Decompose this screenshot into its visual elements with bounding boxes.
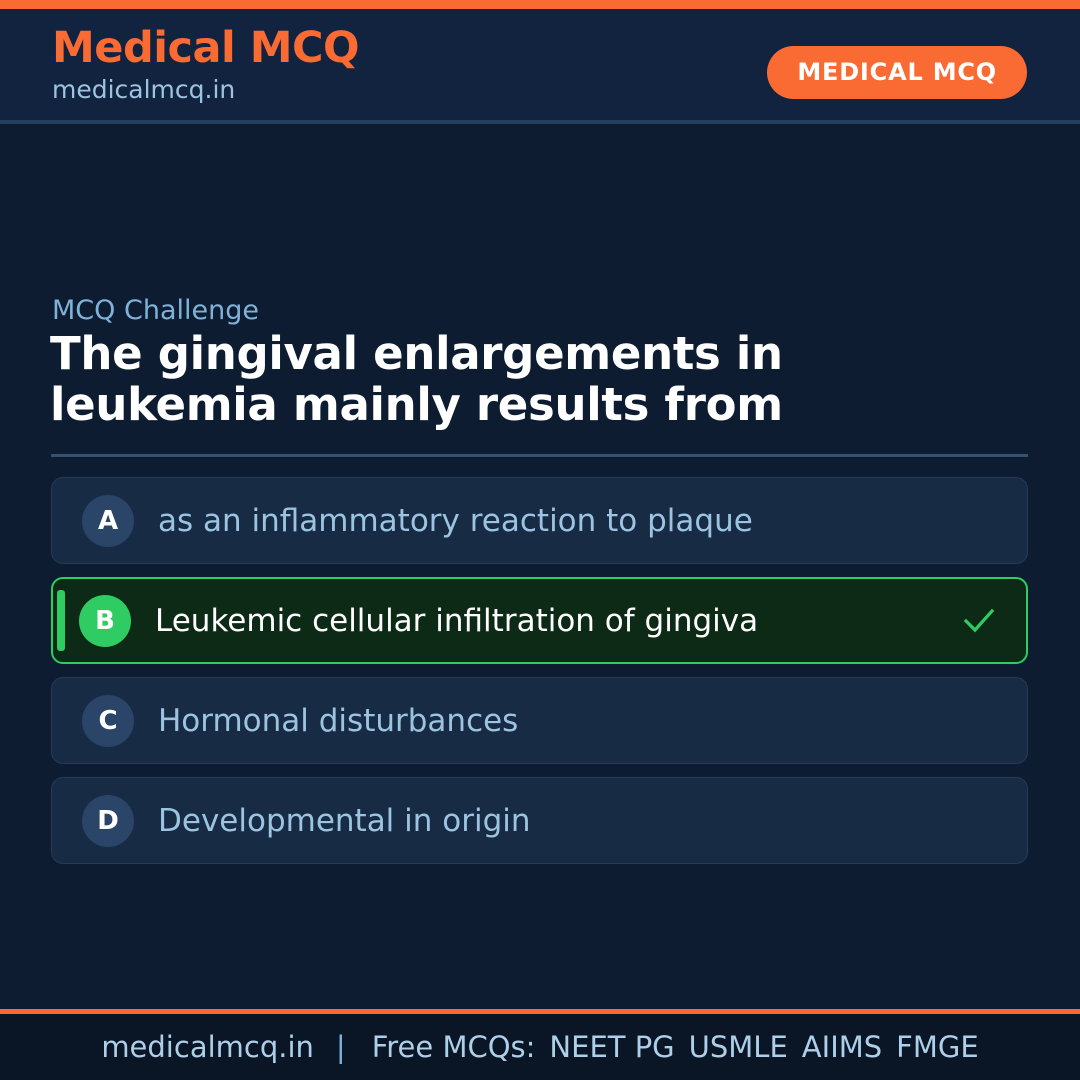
footer-content: medicalmcq.in | Free MCQs: NEET PG USMLE…: [101, 1029, 978, 1065]
brand-title: Medical MCQ: [52, 22, 359, 74]
option-letter-badge: D: [82, 795, 134, 847]
option-d[interactable]: D Developmental in origin: [51, 777, 1028, 864]
option-label: as an inflammatory reaction to plaque: [158, 502, 753, 540]
question-text: The gingival enlargements in leukemia ma…: [50, 328, 970, 430]
option-a[interactable]: A as an inflammatory reaction to plaque: [51, 477, 1028, 564]
footer-tag-neet-pg[interactable]: NEET PG: [549, 1029, 674, 1065]
option-letter-badge: C: [82, 695, 134, 747]
footer-bar: medicalmcq.in | Free MCQs: NEET PG USMLE…: [0, 1014, 1080, 1080]
brand: Medical MCQ medicalmcq.in: [52, 22, 359, 106]
footer-site[interactable]: medicalmcq.in: [101, 1029, 314, 1065]
question-divider: [51, 454, 1028, 457]
option-letter-badge: B: [79, 595, 131, 647]
option-label: Hormonal disturbances: [158, 702, 518, 740]
header-divider: [0, 120, 1080, 124]
option-c[interactable]: C Hormonal disturbances: [51, 677, 1028, 764]
mcq-challenge-label: MCQ Challenge: [52, 294, 259, 328]
header-bar: Medical MCQ medicalmcq.in MEDICAL MCQ: [0, 9, 1080, 122]
option-accent-bar: [57, 590, 65, 651]
option-label: Developmental in origin: [158, 802, 531, 840]
option-letter-badge: A: [82, 495, 134, 547]
mcq-card: Medical MCQ medicalmcq.in MEDICAL MCQ MC…: [0, 0, 1080, 1080]
footer-label: Free MCQs:: [372, 1029, 536, 1065]
footer-tag-aiims[interactable]: AIIMS: [802, 1029, 882, 1065]
footer-separator: |: [336, 1029, 346, 1065]
header-badge: MEDICAL MCQ: [767, 46, 1027, 99]
footer-tag-fmge[interactable]: FMGE: [896, 1029, 979, 1065]
options-list: A as an inflammatory reaction to plaque …: [51, 477, 1028, 877]
top-accent-bar: [0, 0, 1080, 9]
option-b[interactable]: B Leukemic cellular infiltration of ging…: [51, 577, 1028, 664]
footer-tag-usmle[interactable]: USMLE: [689, 1029, 788, 1065]
option-label: Leukemic cellular infiltration of gingiv…: [155, 602, 758, 640]
check-icon: [960, 602, 998, 640]
brand-subtitle: medicalmcq.in: [52, 74, 359, 106]
